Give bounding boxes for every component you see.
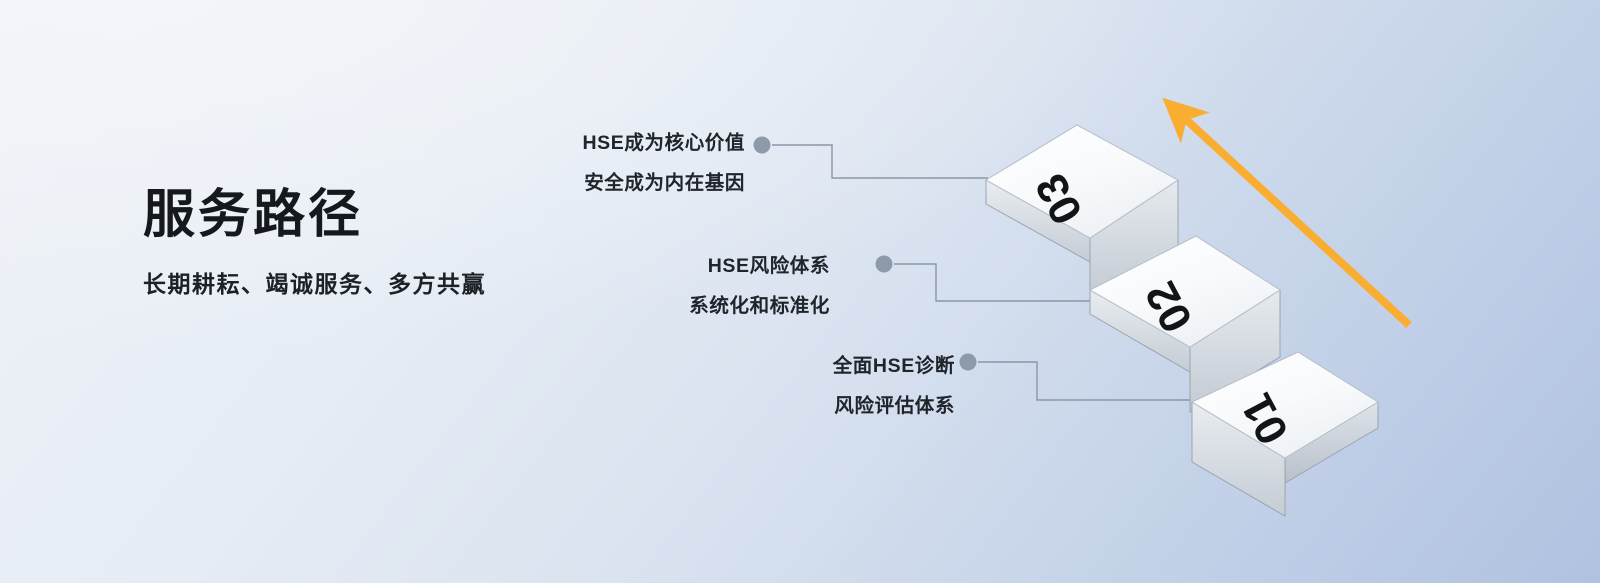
connector-02 [876, 256, 1093, 302]
connector-03-dot [754, 137, 771, 154]
connector-01-dot [960, 354, 977, 371]
slide-canvas: 服务路径 长期耕耘、竭诚服务、多方共赢 HSE成为核心价值 安全成为内在基因 H… [0, 0, 1600, 583]
connector-01-path [978, 362, 1196, 400]
connector-01 [960, 354, 1197, 401]
isometric-staircase-graphic: 03 02 01 [0, 0, 1600, 583]
connector-02-dot [876, 256, 893, 273]
connector-03 [754, 137, 989, 179]
connector-03-path [772, 145, 988, 178]
connector-02-path [894, 264, 1092, 301]
